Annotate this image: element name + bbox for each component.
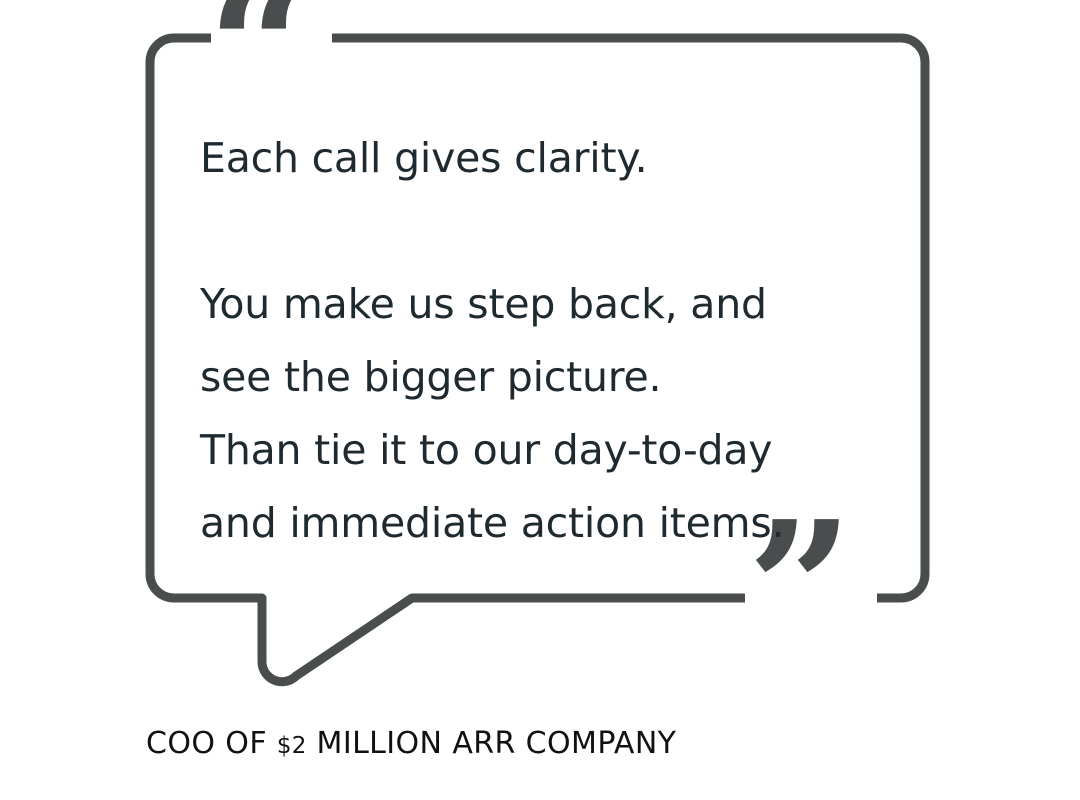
quote-attribution: COO OF $2 MILLION ARR COMPANY	[146, 726, 676, 761]
quote-line: Each call gives clarity.	[200, 122, 890, 195]
attribution-amount: $2	[277, 733, 307, 759]
quote-line: see the bigger picture.	[200, 341, 890, 414]
attribution-role: COO OF	[146, 726, 267, 761]
quote-line: You make us step back, and	[200, 268, 890, 341]
attribution-qualifier: MILLION ARR COMPANY	[317, 726, 677, 761]
quote-paragraph-gap	[200, 195, 890, 268]
quote-line: and immediate action items.	[200, 487, 890, 560]
bubble-border-bottom-right	[877, 574, 925, 598]
quote-line: Than tie it to our day-to-day	[200, 414, 890, 487]
opening-quote-icon: “	[207, 0, 307, 141]
quote-text: Each call gives clarity. You make us ste…	[200, 122, 890, 560]
testimonial-card: “ ” Each call gives clarity. You make us…	[0, 0, 1080, 800]
